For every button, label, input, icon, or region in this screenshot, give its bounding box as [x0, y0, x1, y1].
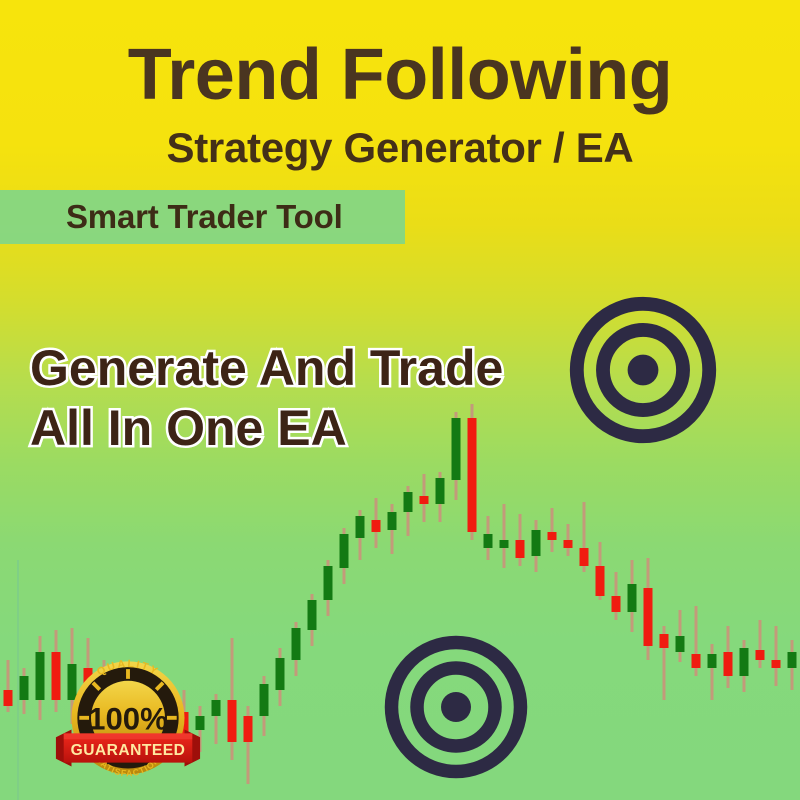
tagline-label: Smart Trader Tool [66, 190, 406, 244]
candle-body [724, 652, 733, 676]
candle-body [740, 648, 749, 676]
candle-body [660, 634, 669, 648]
candle-body [356, 516, 365, 538]
candle-body [212, 700, 221, 716]
candle-body [372, 520, 381, 532]
page-title: Trend Following [0, 36, 800, 114]
hero-text-block: Generate And Trade All In One EA [30, 338, 503, 458]
candle-body [324, 566, 333, 600]
candle-body [644, 588, 653, 646]
candle-body [708, 654, 717, 668]
candle-body [628, 584, 637, 612]
candle-body [484, 534, 493, 548]
candle-body [564, 540, 573, 548]
target-icon [381, 632, 531, 782]
candle-body [788, 652, 797, 668]
candle-body [244, 716, 253, 742]
page-subtitle: Strategy Generator / EA [0, 124, 800, 172]
candle-body [340, 534, 349, 568]
hero-line-1: Generate And Trade [30, 338, 503, 398]
candle-body [756, 650, 765, 660]
candle-body [548, 532, 557, 540]
candle-body [276, 658, 285, 690]
candle-body [596, 566, 605, 596]
seal-ribbon-label: GUARANTEED [71, 742, 186, 759]
candle-body [420, 496, 429, 504]
candle-body [436, 478, 445, 504]
candle-body [4, 690, 13, 706]
candle-body [676, 636, 685, 652]
seal-percent-label: 100% [88, 702, 168, 737]
candle-body [612, 596, 621, 612]
candle-body [308, 600, 317, 630]
hero-line-2: All In One EA [30, 398, 503, 458]
candle-body [692, 654, 701, 668]
candle-body [404, 492, 413, 512]
candle-body [532, 530, 541, 556]
candle-body [20, 676, 29, 700]
guarantee-seal-icon: QUALITY SATISFACTION 100% GUARANTEED [50, 636, 206, 786]
candle-body [292, 628, 301, 660]
candle-body [260, 684, 269, 716]
candle-body [36, 652, 45, 700]
promo-banner: QUALITY SATISFACTION 100% GUARANTEED Tre… [0, 0, 800, 800]
candle-body [772, 660, 781, 668]
candle-body [580, 548, 589, 566]
candle-body [500, 540, 509, 548]
target-icon [566, 293, 720, 447]
candle-body [388, 512, 397, 530]
candle-body [516, 540, 525, 558]
candle-body [228, 700, 237, 742]
